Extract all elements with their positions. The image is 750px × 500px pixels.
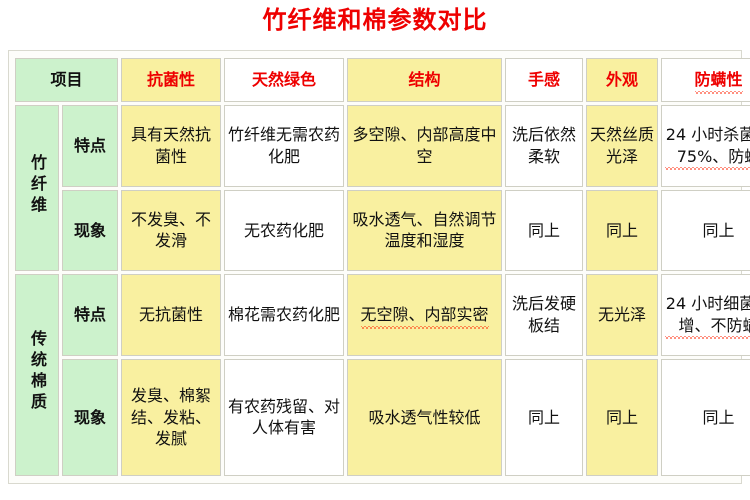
cell-cotton-feature-structure: 无空隙、内部实密 — [347, 274, 502, 356]
subrow-label-feature: 特点 — [62, 274, 118, 356]
table-row: 现象 不发臭、不发滑 无农药化肥 吸水透气、自然调节温度和湿度 同上 同上 同上 — [15, 190, 750, 272]
comparison-table-frame: 项目 抗菌性 天然绿色 结构 手感 外观 防螨性 竹纤维 特点 具有天然抗菌性 … — [8, 50, 742, 484]
cell-cotton-phenomenon-hand-feel: 同上 — [505, 359, 583, 476]
cell-bamboo-feature-appearance: 天然丝质光泽 — [586, 105, 658, 187]
cell-cotton-phenomenon-structure: 吸水透气性较低 — [347, 359, 502, 476]
group-label-cotton: 传统棉质 — [15, 274, 59, 476]
cell-cotton-phenomenon-anti-mite: 同上 — [661, 359, 750, 476]
cell-bamboo-feature-anti-mite: 24 小时杀菌率 75%、防螨 — [661, 105, 750, 187]
header-cell-antibacterial: 抗菌性 — [121, 58, 221, 102]
cell-cotton-phenomenon-appearance: 同上 — [586, 359, 658, 476]
table-row: 现象 发臭、棉絮结、发粘、发腻 有农药残留、对人体有害 吸水透气性较低 同上 同… — [15, 359, 750, 476]
cell-bamboo-phenomenon-appearance: 同上 — [586, 190, 658, 272]
cell-cotton-phenomenon-natural-green: 有农药残留、对人体有害 — [224, 359, 344, 476]
header-cell-natural-green: 天然绿色 — [224, 58, 344, 102]
cell-bamboo-phenomenon-hand-feel: 同上 — [505, 190, 583, 272]
cell-bamboo-phenomenon-anti-mite: 同上 — [661, 190, 750, 272]
cell-cotton-feature-appearance: 无光泽 — [586, 274, 658, 356]
page-title: 竹纤维和棉参数对比 — [0, 2, 750, 38]
cell-bamboo-feature-structure: 多空隙、内部高度中空 — [347, 105, 502, 187]
header-cell-item: 项目 — [15, 58, 118, 102]
header-cell-hand-feel: 手感 — [505, 58, 583, 102]
cell-bamboo-feature-hand-feel: 洗后依然柔软 — [505, 105, 583, 187]
subrow-label-feature: 特点 — [62, 105, 118, 187]
cell-bamboo-feature-antibacterial: 具有天然抗菌性 — [121, 105, 221, 187]
header-cell-appearance: 外观 — [586, 58, 658, 102]
subrow-label-phenomenon: 现象 — [62, 190, 118, 272]
cell-cotton-feature-hand-feel: 洗后发硬板结 — [505, 274, 583, 356]
table-header-row: 项目 抗菌性 天然绿色 结构 手感 外观 防螨性 — [15, 58, 750, 102]
table-row: 传统棉质 特点 无抗菌性 棉花需农药化肥 无空隙、内部实密 洗后发硬板结 无光泽… — [15, 274, 750, 356]
header-cell-structure: 结构 — [347, 58, 502, 102]
cell-cotton-feature-anti-mite: 24 小时细菌倍增、不防螨 — [661, 274, 750, 356]
group-label-bamboo: 竹纤维 — [15, 105, 59, 271]
comparison-table: 项目 抗菌性 天然绿色 结构 手感 外观 防螨性 竹纤维 特点 具有天然抗菌性 … — [12, 55, 750, 479]
subrow-label-phenomenon: 现象 — [62, 359, 118, 476]
cell-cotton-phenomenon-antibacterial: 发臭、棉絮结、发粘、发腻 — [121, 359, 221, 476]
cell-cotton-feature-natural-green: 棉花需农药化肥 — [224, 274, 344, 356]
page-root: 竹纤维和棉参数对比 项目 抗菌性 天然绿色 结构 手感 外观 防螨性 — [0, 0, 750, 500]
cell-bamboo-feature-natural-green: 竹纤维无需农药化肥 — [224, 105, 344, 187]
cell-cotton-feature-antibacterial: 无抗菌性 — [121, 274, 221, 356]
header-cell-anti-mite: 防螨性 — [661, 58, 750, 102]
cell-bamboo-phenomenon-natural-green: 无农药化肥 — [224, 190, 344, 272]
cell-bamboo-phenomenon-antibacterial: 不发臭、不发滑 — [121, 190, 221, 272]
cell-bamboo-phenomenon-structure: 吸水透气、自然调节温度和湿度 — [347, 190, 502, 272]
header-anti-mite-text: 防螨性 — [695, 69, 743, 91]
table-row: 竹纤维 特点 具有天然抗菌性 竹纤维无需农药化肥 多空隙、内部高度中空 洗后依然… — [15, 105, 750, 187]
